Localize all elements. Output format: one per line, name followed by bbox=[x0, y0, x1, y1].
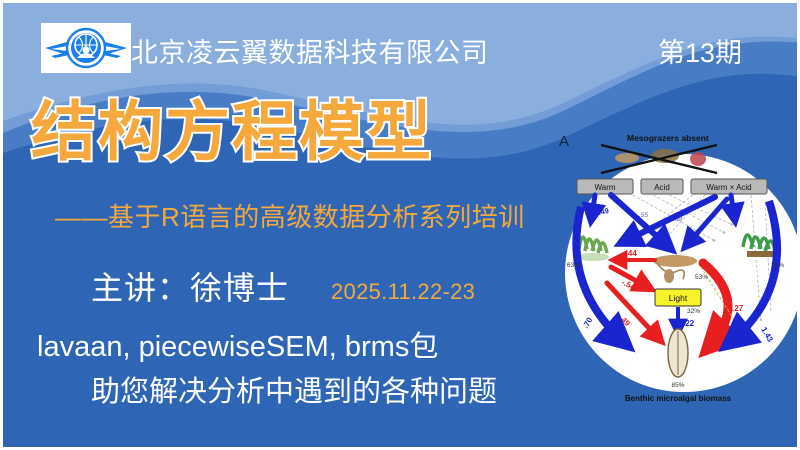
svg-text:Warm × Acid: Warm × Acid bbox=[706, 183, 751, 192]
svg-text:-1.27: -1.27 bbox=[725, 304, 744, 313]
figure-top-caption: Mesograzers absent bbox=[627, 133, 709, 143]
svg-text:53%: 53% bbox=[695, 274, 708, 281]
poster-header: 北京凌云翼数据科技有限公司 第13期 bbox=[3, 3, 800, 91]
svg-text:Acid: Acid bbox=[654, 183, 670, 192]
svg-text:63%: 63% bbox=[567, 262, 580, 269]
svg-text:85%: 85% bbox=[671, 382, 684, 389]
winged-globe-logo bbox=[41, 23, 131, 73]
sem-path-diagram: Mesograzers absent Warm Acid Warm × Acid bbox=[565, 121, 800, 411]
company-name: 北京凌云翼数据科技有限公司 bbox=[131, 31, 489, 70]
figure-bottom-caption: Benthic microalgal biomass bbox=[625, 394, 732, 403]
svg-text:32%: 32% bbox=[687, 308, 700, 315]
speaker-row: 主讲：徐博士 2025.11.22-23 bbox=[91, 263, 475, 309]
issue-badge: 第13期 bbox=[658, 31, 742, 70]
course-dates: 2025.11.22-23 bbox=[331, 279, 475, 305]
svg-text:Warm: Warm bbox=[594, 183, 615, 192]
svg-text:.22: .22 bbox=[683, 319, 695, 328]
svg-text:-.44: -.44 bbox=[623, 249, 637, 258]
help-line: 助您解决分析中遇到的各种问题 bbox=[91, 368, 497, 410]
page-title: 结构方程模型 bbox=[31, 99, 433, 164]
poster-subtitle: ——基于R语言的高级数据分析系列培训 bbox=[55, 197, 525, 234]
figure-panel-letter: A bbox=[559, 133, 569, 150]
speaker-label: 主讲：徐博士 bbox=[91, 263, 289, 309]
packages-line: lavaan, piecewiseSEM, brms包 bbox=[37, 323, 438, 365]
svg-text:27%: 27% bbox=[771, 262, 784, 269]
light-construct-box: Light bbox=[669, 293, 688, 303]
poster-canvas: 北京凌云翼数据科技有限公司 第13期 结构方程模型 ——基于R语言的高级数据分析… bbox=[0, 0, 800, 450]
